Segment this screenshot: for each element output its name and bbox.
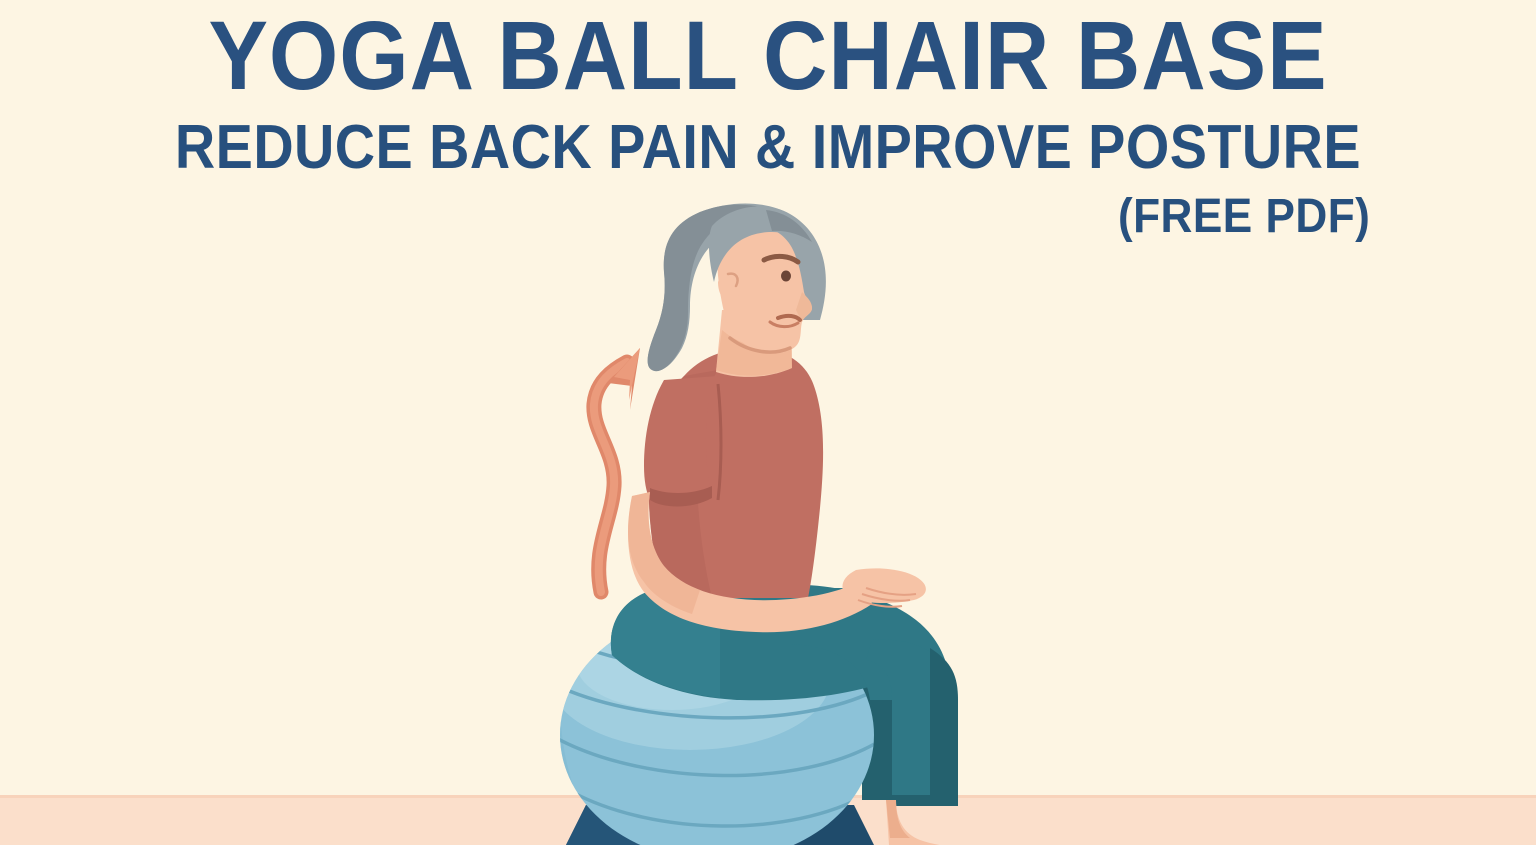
figure-torso-shirt [644,348,823,598]
headline-block: YOGA BALL CHAIR BASE REDUCE BACK PAIN & … [0,0,1536,244]
poster-canvas: YOGA BALL CHAIR BASE REDUCE BACK PAIN & … [0,0,1536,845]
badge-row: (FREE PDF) [0,190,1536,244]
page-title: YOGA BALL CHAIR BASE [61,0,1474,108]
figure-foot [886,800,1000,845]
free-pdf-badge: (FREE PDF) [1118,190,1370,244]
page-subtitle: REDUCE BACK PAIN & IMPROVE POSTURE [77,108,1459,184]
